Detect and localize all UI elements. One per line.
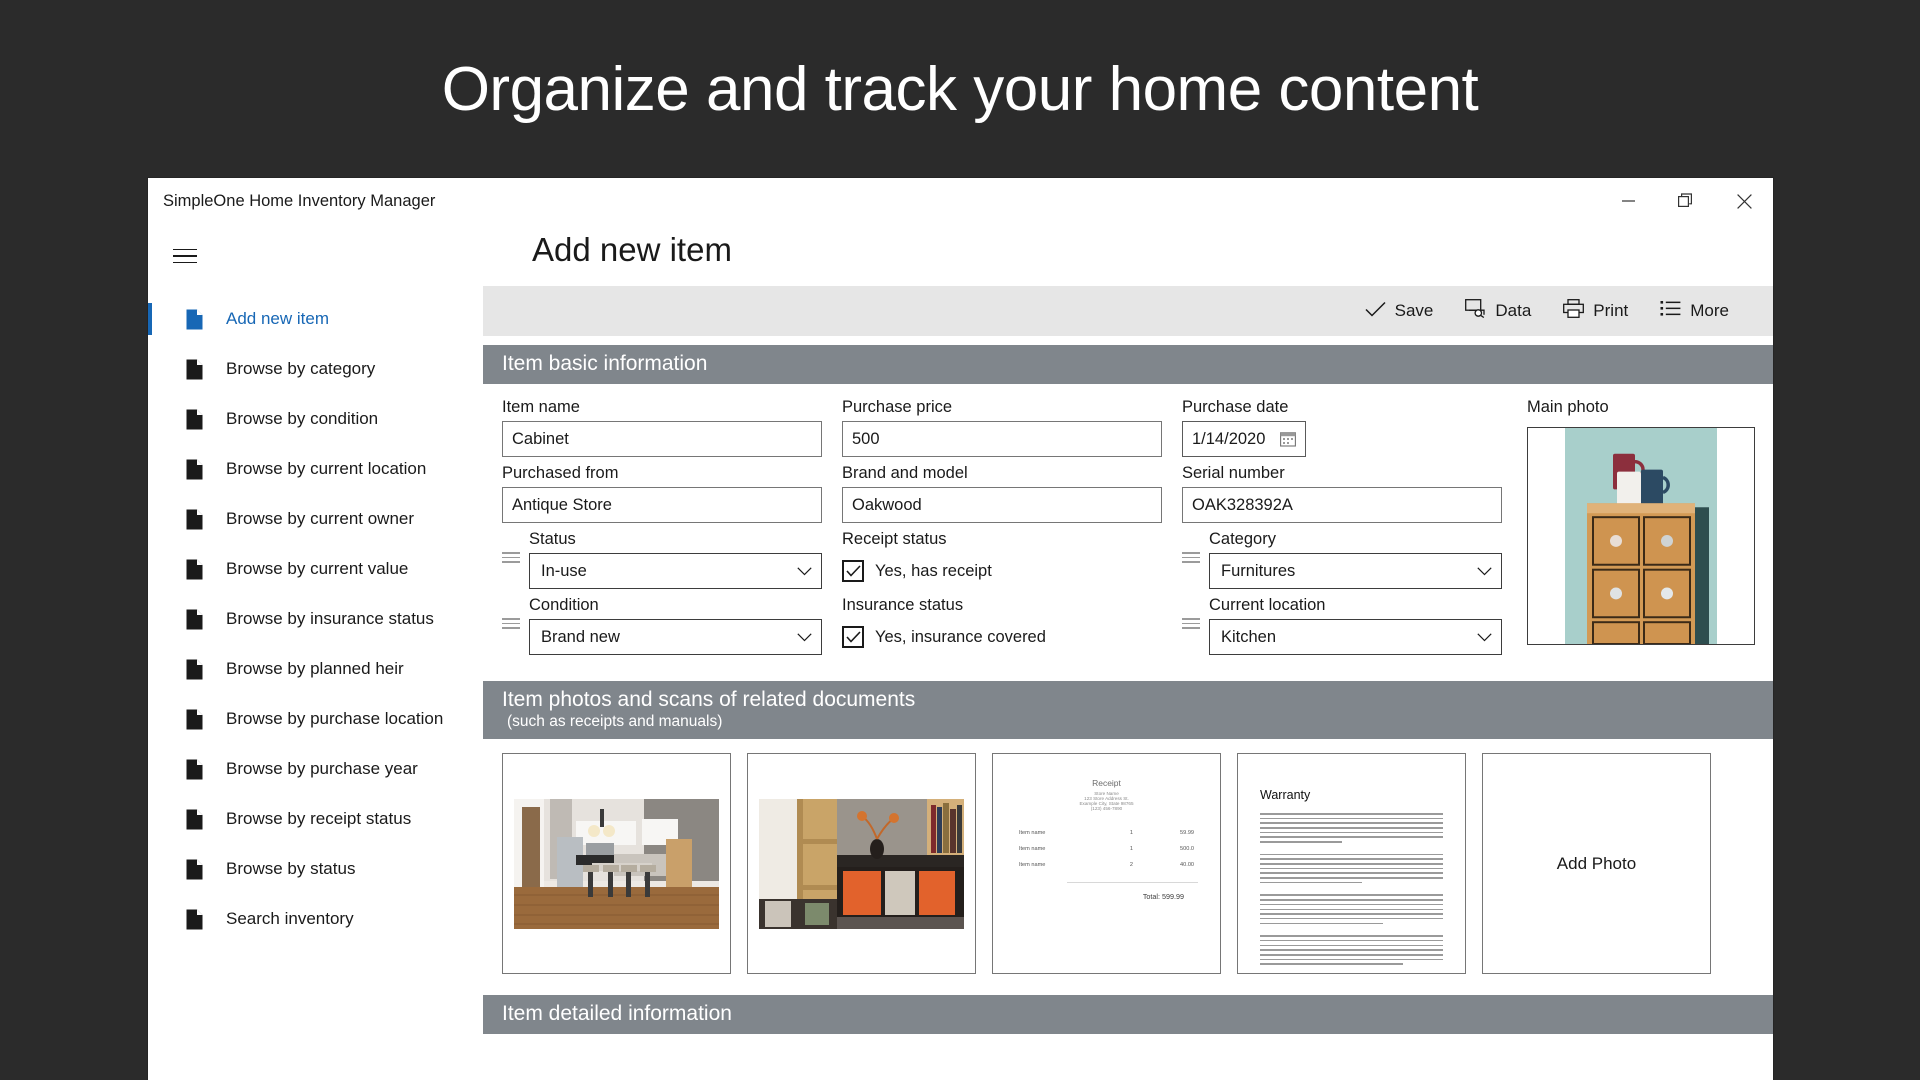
document-icon <box>186 859 212 880</box>
thumbnail-kitchen-interior-photo[interactable] <box>502 753 731 974</box>
purchased-from-field: Purchased from Antique Store <box>502 464 822 523</box>
sidebar-item-label: Browse by current value <box>226 559 408 579</box>
status-field: Status In-use <box>502 530 822 589</box>
serial-number-label: Serial number <box>1182 464 1502 483</box>
insurance-status-label: Insurance status <box>842 596 1162 615</box>
warranty-body-text <box>1260 813 1443 965</box>
document-icon <box>186 309 212 330</box>
category-value: Furnitures <box>1221 562 1295 581</box>
chevron-down-icon <box>1477 628 1492 647</box>
document-icon <box>186 509 212 530</box>
chevron-down-icon <box>1477 562 1492 581</box>
warranty-paragraph <box>1260 854 1443 884</box>
purchase-price-input[interactable]: 500 <box>842 421 1162 457</box>
document-icon <box>186 409 212 430</box>
checkbox-checked-icon <box>842 560 864 582</box>
sidebar-item-browse-by-condition[interactable]: Browse by condition <box>148 394 462 444</box>
sidebar-item-label: Browse by condition <box>226 409 378 429</box>
main-photo-label: Main photo <box>1527 398 1773 417</box>
drag-handle-icon[interactable] <box>1182 618 1200 629</box>
page-title: Add new item <box>532 231 1773 269</box>
window-controls <box>1599 178 1773 224</box>
insurance-status-field: Insurance status Yes, insurance covered <box>842 596 1162 655</box>
sidebar-item-label: Browse by status <box>226 859 355 879</box>
category-dropdown[interactable]: Furnitures <box>1209 553 1502 589</box>
receipt-item-price: 59.99 <box>1138 825 1194 841</box>
receipt-total: Total: 599.99 <box>1007 892 1206 901</box>
section-header-detailed-info: Item detailed information <box>483 995 1773 1034</box>
sidebar-item-label: Browse by planned heir <box>226 659 404 679</box>
status-label: Status <box>529 530 822 549</box>
sidebar-item-browse-by-current-location[interactable]: Browse by current location <box>148 444 462 494</box>
receipt-status-label: Receipt status <box>842 530 1162 549</box>
receipt-status-checkbox-label: Yes, has receipt <box>875 562 992 581</box>
promo-headline: Organize and track your home content <box>442 54 1479 125</box>
receipt-line-items: Item name159.99Item name1500.0Item name2… <box>1019 825 1194 873</box>
receipt-line-item: Item name1500.0 <box>1019 841 1194 857</box>
receipt-item-name: Item name <box>1019 841 1125 857</box>
cabinet-shelf-photo <box>759 799 964 929</box>
more-label: More <box>1690 301 1729 321</box>
insurance-status-checkbox[interactable]: Yes, insurance covered <box>842 619 1162 655</box>
thumbnail-warranty-document-scan[interactable]: Warranty <box>1237 753 1466 974</box>
more-button[interactable]: More <box>1644 286 1745 336</box>
receipt-line-item: Item name159.99 <box>1019 825 1194 841</box>
purchased-from-label: Purchased from <box>502 464 822 483</box>
drag-handle-icon[interactable] <box>1182 552 1200 563</box>
document-icon <box>186 359 212 380</box>
data-button[interactable]: Data <box>1449 286 1547 336</box>
sidebar-item-add-new-item[interactable]: Add new item <box>148 294 462 344</box>
warranty-paragraph <box>1260 894 1443 924</box>
print-button[interactable]: Print <box>1547 286 1644 336</box>
condition-label: Condition <box>529 596 822 615</box>
add-photo-tile[interactable]: Add Photo <box>1482 753 1711 974</box>
serial-number-field: Serial number OAK328392A <box>1182 464 1502 523</box>
warranty-paragraph <box>1260 813 1443 843</box>
purchase-price-label: Purchase price <box>842 398 1162 417</box>
insurance-status-checkbox-label: Yes, insurance covered <box>875 628 1046 647</box>
warranty-paragraph <box>1260 935 1443 965</box>
main-content: Add new item Save <box>462 224 1773 1080</box>
warranty-title: Warranty <box>1260 788 1443 802</box>
sidebar-item-browse-by-planned-heir[interactable]: Browse by planned heir <box>148 644 462 694</box>
item-name-field: Item name Cabinet <box>502 398 822 457</box>
sidebar-item-label: Browse by current location <box>226 459 426 479</box>
save-label: Save <box>1395 301 1434 321</box>
main-photo-frame[interactable] <box>1527 427 1755 645</box>
receipt-item-name: Item name <box>1019 825 1125 841</box>
receipt-item-qty: 2 <box>1125 857 1138 873</box>
navigation-sidebar: Add new itemBrowse by categoryBrowse by … <box>148 224 462 1080</box>
title-bar: SimpleOne Home Inventory Manager <box>148 178 1773 224</box>
sidebar-item-browse-by-insurance-status[interactable]: Browse by insurance status <box>148 594 462 644</box>
sidebar-item-browse-by-purchase-location[interactable]: Browse by purchase location <box>148 694 462 744</box>
sidebar-item-label: Browse by insurance status <box>226 609 434 629</box>
checkmark-icon <box>1365 301 1386 322</box>
minimize-button[interactable] <box>1599 178 1657 224</box>
app-title: SimpleOne Home Inventory Manager <box>163 192 435 211</box>
basic-info-form: Item name Cabinet Purchase price 500 Pur… <box>483 384 1773 672</box>
document-icon <box>186 709 212 730</box>
kitchen-interior-photo <box>514 799 719 929</box>
sidebar-item-browse-by-category[interactable]: Browse by category <box>148 344 462 394</box>
calendar-icon[interactable] <box>1280 431 1296 447</box>
document-icon <box>186 609 212 630</box>
receipt-status-checkbox[interactable]: Yes, has receipt <box>842 553 1162 589</box>
condition-field: Condition Brand new <box>502 596 822 655</box>
sidebar-item-label: Add new item <box>226 309 329 329</box>
current-location-field: Current location Kitchen <box>1182 596 1502 655</box>
category-field: Category Furnitures <box>1182 530 1502 589</box>
receipt-status-field: Receipt status Yes, has receipt <box>842 530 1162 589</box>
form-columns: Item name Cabinet Purchase price 500 Pur… <box>483 398 1503 662</box>
sidebar-item-browse-by-status[interactable]: Browse by status <box>148 844 462 894</box>
sidebar-item-browse-by-current-owner[interactable]: Browse by current owner <box>148 494 462 544</box>
sidebar-item-browse-by-current-value[interactable]: Browse by current value <box>148 544 462 594</box>
receipt-item-qty: 1 <box>1125 825 1138 841</box>
document-icon <box>186 659 212 680</box>
hamburger-menu-icon[interactable] <box>173 232 221 280</box>
brand-and-model-field: Brand and model Oakwood <box>842 464 1162 523</box>
print-label: Print <box>1593 301 1628 321</box>
restore-button[interactable] <box>1657 178 1715 224</box>
printer-icon <box>1563 299 1584 323</box>
receipt-line-item: Item name240.00 <box>1019 857 1194 873</box>
sidebar-item-browse-by-purchase-year[interactable]: Browse by purchase year <box>148 744 462 794</box>
chevron-down-icon <box>797 628 812 647</box>
current-location-label: Current location <box>1209 596 1502 615</box>
purchased-from-input[interactable]: Antique Store <box>502 487 822 523</box>
photo-thumbnail-strip: Receipt Store Name 123 Store Address St.… <box>483 739 1773 986</box>
receipt-item-name: Item name <box>1019 857 1125 873</box>
purchase-date-value: 1/14/2020 <box>1192 430 1265 449</box>
condition-dropdown[interactable]: Brand new <box>529 619 822 655</box>
thumbnail-cabinet-shelf-photo[interactable] <box>747 753 976 974</box>
sidebar-item-search-inventory[interactable]: Search inventory <box>148 894 462 944</box>
item-name-input[interactable]: Cabinet <box>502 421 822 457</box>
checkbox-checked-icon <box>842 626 864 648</box>
save-button[interactable]: Save <box>1349 286 1450 336</box>
section-header-basic-info: Item basic information <box>483 345 1773 384</box>
add-photo-label: Add Photo <box>1557 854 1636 874</box>
sidebar-nav-list: Add new itemBrowse by categoryBrowse by … <box>148 294 462 944</box>
window-body: Add new itemBrowse by categoryBrowse by … <box>148 224 1773 1080</box>
document-icon <box>186 909 212 930</box>
document-icon <box>186 809 212 830</box>
receipt-document: Receipt Store Name 123 Store Address St.… <box>993 754 1220 973</box>
drag-handle-icon[interactable] <box>502 618 520 629</box>
section-title: Item basic information <box>502 352 1773 376</box>
app-window: SimpleOne Home Inventory Manager <box>148 178 1773 1080</box>
section-title: Item photos and scans of related documen… <box>502 688 1773 712</box>
purchase-date-input[interactable]: 1/14/2020 <box>1182 421 1306 457</box>
sidebar-item-label: Browse by current owner <box>226 509 414 529</box>
section-subtitle: (such as receipts and manuals) <box>502 713 1773 731</box>
sidebar-item-label: Browse by receipt status <box>226 809 411 829</box>
brand-and-model-label: Brand and model <box>842 464 1162 483</box>
drag-handle-icon[interactable] <box>502 552 520 563</box>
document-icon <box>186 459 212 480</box>
current-location-value: Kitchen <box>1221 628 1276 647</box>
current-location-dropdown[interactable]: Kitchen <box>1209 619 1502 655</box>
document-icon <box>186 759 212 780</box>
promo-banner: Organize and track your home content <box>0 0 1920 178</box>
wooden-cabinet-with-mugs-photo <box>1565 428 1717 644</box>
brand-and-model-input[interactable]: Oakwood <box>842 487 1162 523</box>
receipt-phone: (123) 456-7890 <box>1007 806 1206 811</box>
sidebar-item-label: Browse by purchase location <box>226 709 443 729</box>
thumbnail-receipt-scan[interactable]: Receipt Store Name 123 Store Address St.… <box>992 753 1221 974</box>
status-dropdown[interactable]: In-use <box>529 553 822 589</box>
sidebar-item-label: Browse by purchase year <box>226 759 418 779</box>
receipt-title: Receipt <box>1007 778 1206 788</box>
item-name-label: Item name <box>502 398 822 417</box>
data-label: Data <box>1495 301 1531 321</box>
section-header-photos: Item photos and scans of related documen… <box>483 681 1773 739</box>
document-icon <box>186 559 212 580</box>
purchase-date-label: Purchase date <box>1182 398 1502 417</box>
serial-number-input[interactable]: OAK328392A <box>1182 487 1502 523</box>
condition-value: Brand new <box>541 628 620 647</box>
receipt-item-qty: 1 <box>1125 841 1138 857</box>
command-bar: Save Data <box>483 286 1773 336</box>
section-title: Item detailed information <box>502 1002 1773 1026</box>
sidebar-item-label: Browse by category <box>226 359 375 379</box>
receipt-item-price: 500.0 <box>1138 841 1194 857</box>
list-more-icon <box>1660 300 1681 323</box>
main-photo-section: Main photo <box>1503 398 1773 662</box>
warranty-document: Warranty <box>1238 754 1465 973</box>
purchase-price-field: Purchase price 500 <box>842 398 1162 457</box>
data-search-icon <box>1465 299 1486 323</box>
purchase-date-field: Purchase date 1/14/2020 <box>1182 398 1502 457</box>
sidebar-item-browse-by-receipt-status[interactable]: Browse by receipt status <box>148 794 462 844</box>
receipt-item-price: 40.00 <box>1138 857 1194 873</box>
status-value: In-use <box>541 562 587 581</box>
chevron-down-icon <box>797 562 812 581</box>
category-label: Category <box>1209 530 1502 549</box>
sidebar-item-label: Search inventory <box>226 909 354 929</box>
close-button[interactable] <box>1715 178 1773 224</box>
